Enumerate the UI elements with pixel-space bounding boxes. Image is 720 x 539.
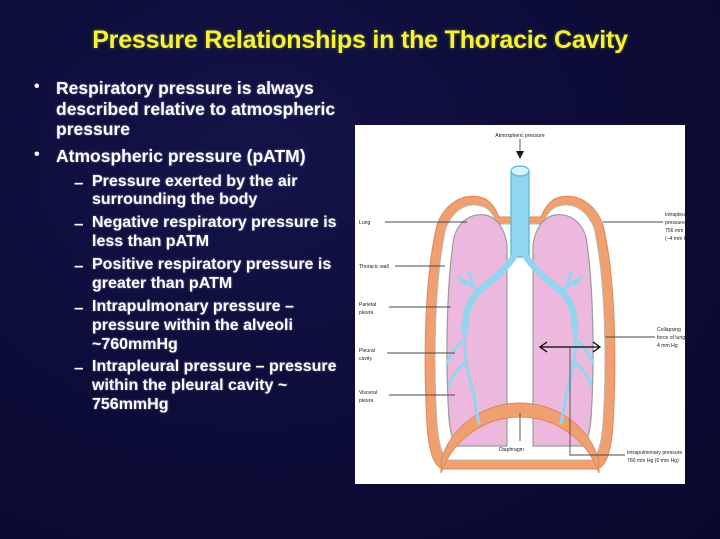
label-collapsing-force-line3: 4 mm Hg [657,343,678,349]
bullet-marker: – [74,298,92,318]
label-intrapulmonary-line1: Intrapulmonary pressure [627,450,682,456]
thoracic-cavity-diagram: Lung Thoracic wall Parietal pleura Pleur… [355,125,685,484]
list-item: – Intrapleural pressure – pressure withi… [74,358,354,415]
list-item: – Pressure exerted by the air surroundin… [74,173,354,211]
label-diaphragm: Diaphragm [499,447,524,453]
label-intrapleural-line1: Intrapleural [665,212,685,218]
slide-canvas: Pressure Relationships in the Thoracic C… [0,0,720,539]
list-item: • Respiratory pressure is always describ… [34,78,354,140]
bullet-marker: • [34,78,56,97]
trachea-opening [511,166,529,176]
bullet-marker: – [74,173,92,193]
bullet-text: Atmospheric pressure (pATM) [56,146,354,167]
label-visceral-pleura-line2: pleura [359,398,373,404]
anatomy-illustration: Lung Thoracic wall Parietal pleura Pleur… [355,125,685,484]
list-item: – Negative respiratory pressure is less … [74,214,354,252]
label-intrapleural-line3: 756 mm Hg [665,228,685,234]
label-pleural-cavity-line1: Pleural [359,348,375,354]
page-title: Pressure Relationships in the Thoracic C… [0,26,720,55]
label-thoracic-wall: Thoracic wall [359,264,389,270]
bullet-text: Positive respiratory pressure is greater… [92,256,354,294]
bullet-text: Pressure exerted by the air surrounding … [92,173,354,211]
label-atmospheric-pressure: Atmospheric pressure [495,133,545,139]
list-item: • Atmospheric pressure (pATM) [34,146,354,167]
label-intrapleural-line4: (–4 mm Hg) [665,236,685,242]
bullet-text: Negative respiratory pressure is less th… [92,214,354,252]
trachea-shape [511,171,529,257]
label-visceral-pleura-line1: Visceral [359,390,377,396]
bullet-marker: – [74,256,92,276]
list-item: – Intrapulmonary pressure – pressure wit… [74,298,354,355]
bullet-text: Respiratory pressure is always described… [56,78,354,140]
label-intrapleural-line2: pressure [665,220,685,226]
bullet-text: Intrapulmonary pressure – pressure withi… [92,298,354,355]
bullet-marker: – [74,214,92,234]
list-item: – Positive respiratory pressure is great… [74,256,354,294]
label-pleural-cavity-line2: cavity [359,356,372,362]
bullet-text: Intrapleural pressure – pressure within … [92,358,354,415]
label-collapsing-force-line1: Collapsing [657,327,681,333]
label-parietal-pleura-line1: Parietal [359,302,376,308]
label-parietal-pleura-line2: pleura [359,310,373,316]
bullet-marker: • [34,146,56,165]
label-lung: Lung [359,220,370,226]
label-intrapulmonary-line2: 760 mm Hg (0 mm Hg) [627,458,679,464]
bullet-marker: – [74,358,92,378]
label-collapsing-force-line2: force of lungs [657,335,685,341]
bullet-list: • Respiratory pressure is always describ… [34,78,354,419]
